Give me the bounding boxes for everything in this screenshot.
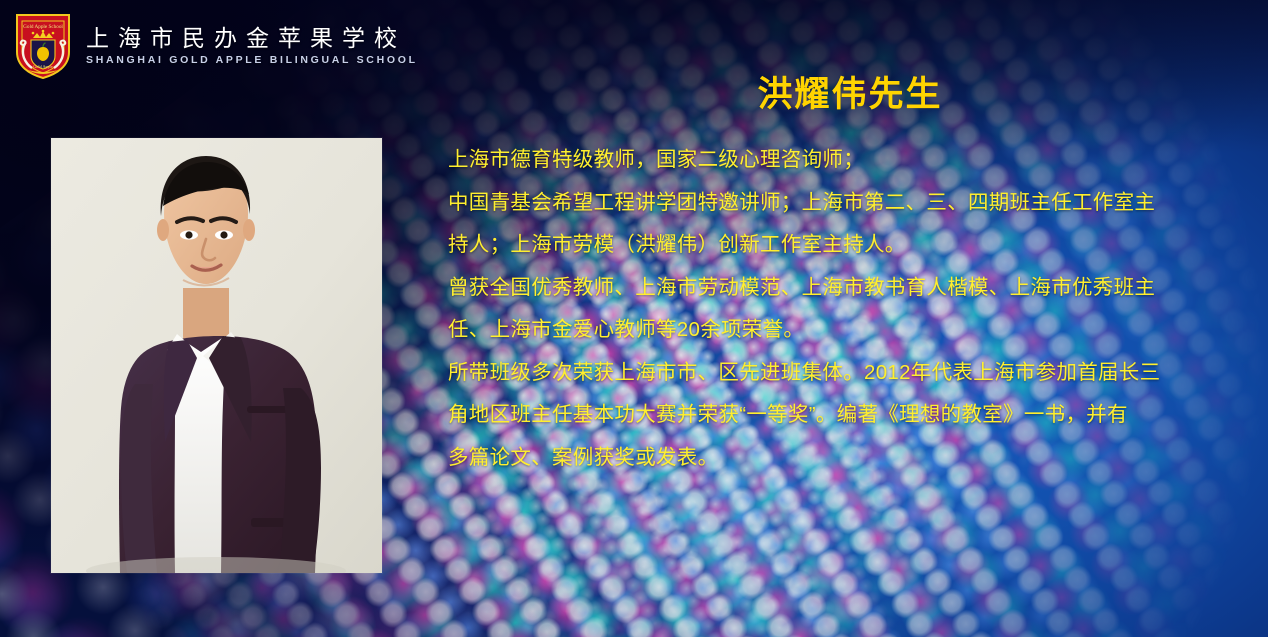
bio-line: 上海市德育特级教师，国家二级心理咨询师； (448, 150, 1258, 171)
school-crest-logo: Gold Apple School Gold Apple (14, 12, 72, 80)
presentation-slide: Gold Apple School Gold Apple 上海市民办金苹果学校 … (0, 0, 1268, 637)
page-title: 洪耀伟先生 (700, 74, 1000, 116)
bio-line: 中国青基会希望工程讲学团特邀讲师；上海市第二、三、四期班主任工作室主 (448, 193, 1258, 214)
speaker-portrait (51, 138, 382, 573)
bio-line: 曾获全国优秀教师、上海市劳动模范、上海市教书育人楷模、上海市优秀班主 (448, 278, 1258, 299)
biography-text-block: 上海市德育特级教师，国家二级心理咨询师； 中国青基会希望工程讲学团特邀讲师；上海… (448, 150, 1258, 468)
bio-line: 多篇论文、案例获奖或发表。 (448, 448, 1258, 469)
svg-text:Gold Apple: Gold Apple (33, 64, 53, 69)
bio-line: 持人；上海市劳模（洪耀伟）创新工作室主持人。 (448, 235, 1258, 256)
bio-line: 角地区班主任基本功大赛并荣获“一等奖”。编著《理想的教室》一书，并有 (448, 405, 1258, 426)
bio-line: 所带班级多次荣获上海市市、区先进班集体。2012年代表上海市参加首届长三 (448, 363, 1258, 384)
school-name-block: 上海市民办金苹果学校 SHANGHAI GOLD APPLE BILINGUAL… (86, 27, 418, 66)
school-brand-lockup: Gold Apple School Gold Apple 上海市民办金苹果学校 … (14, 12, 418, 80)
portrait-illustration (51, 138, 382, 573)
svg-text:Gold Apple School: Gold Apple School (23, 24, 63, 30)
school-name-cn: 上海市民办金苹果学校 (86, 27, 418, 50)
bio-line: 任、上海市金爱心教师等20余项荣誉。 (448, 320, 1258, 341)
school-name-en: SHANGHAI GOLD APPLE BILINGUAL SCHOOL (86, 55, 418, 66)
